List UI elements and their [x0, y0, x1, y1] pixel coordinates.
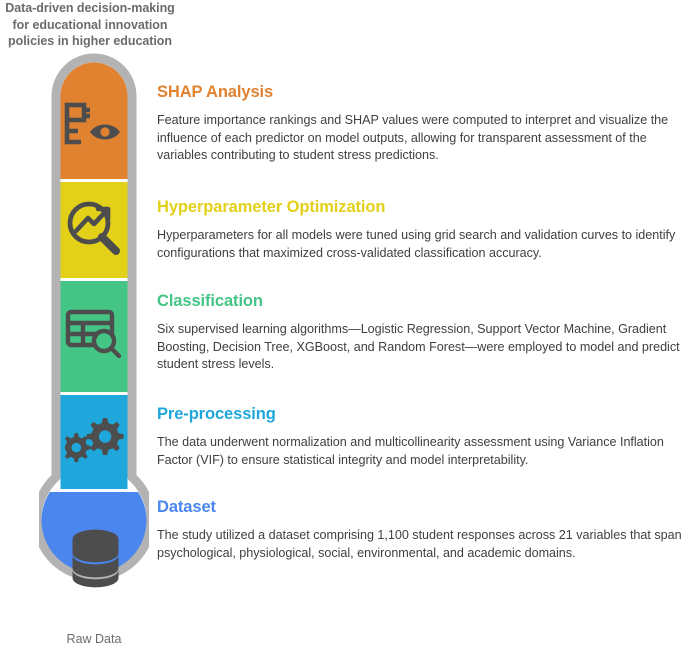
page-title-line-2: for educational innovation: [0, 17, 180, 34]
segment-fill-hyperparameter: [61, 182, 128, 278]
step-block-dataset: Dataset The study utilized a dataset com…: [157, 498, 685, 562]
segment-fill-classification: [61, 281, 128, 392]
step-block-preprocessing: Pre-processing The data underwent normal…: [157, 405, 685, 469]
step-block-shap: SHAP Analysis Feature importance ranking…: [157, 83, 685, 165]
step-heading-shap: SHAP Analysis: [157, 83, 685, 102]
segment-fill-preprocessing: [61, 395, 128, 489]
segment-fill-shap: [61, 57, 128, 179]
thermometer-svg: [39, 52, 149, 622]
step-body-preprocessing: The data underwent normalization and mul…: [157, 434, 685, 469]
step-body-classification: Six supervised learning algorithms—Logis…: [157, 321, 685, 374]
step-body-shap: Feature importance rankings and SHAP val…: [157, 112, 685, 165]
step-block-classification: Classification Six supervised learning a…: [157, 292, 685, 374]
step-heading-dataset: Dataset: [157, 498, 685, 517]
page-title-line-1: Data-driven decision-making: [0, 0, 180, 17]
page-title-line-3: policies in higher education: [0, 33, 180, 50]
step-block-hyperparameter: Hyperparameter Optimization Hyperparamet…: [157, 198, 685, 262]
raw-data-caption: Raw Data: [0, 632, 188, 647]
step-heading-hyperparameter: Hyperparameter Optimization: [157, 198, 685, 217]
page-title: Data-driven decision-making for educatio…: [0, 0, 180, 50]
step-heading-preprocessing: Pre-processing: [157, 405, 685, 424]
step-body-hyperparameter: Hyperparameters for all models were tune…: [157, 227, 685, 262]
step-body-dataset: The study utilized a dataset comprising …: [157, 527, 685, 562]
step-heading-classification: Classification: [157, 292, 685, 311]
thermometer-funnel-graphic: [39, 52, 149, 622]
